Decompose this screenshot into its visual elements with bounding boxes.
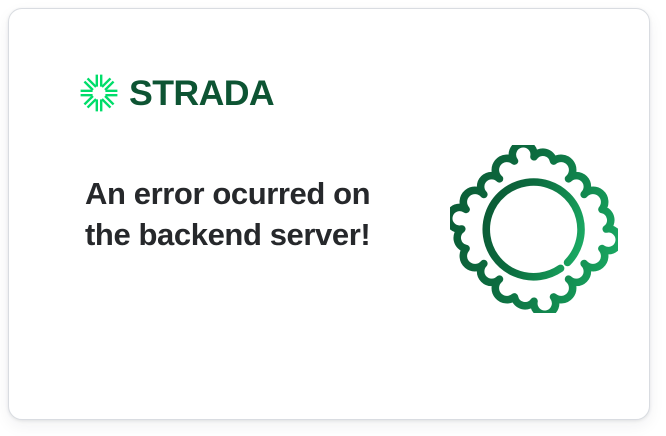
brand-wordmark: STRADA xyxy=(129,76,274,111)
strada-asterisk-mark-icon xyxy=(79,73,119,113)
error-card: STRADA An error ocurred on the backend s… xyxy=(8,8,650,420)
error-message-text: An error ocurred on the backend server! xyxy=(85,173,375,255)
brand-lockup: STRADA xyxy=(79,73,271,113)
gear-illustration xyxy=(450,145,618,313)
